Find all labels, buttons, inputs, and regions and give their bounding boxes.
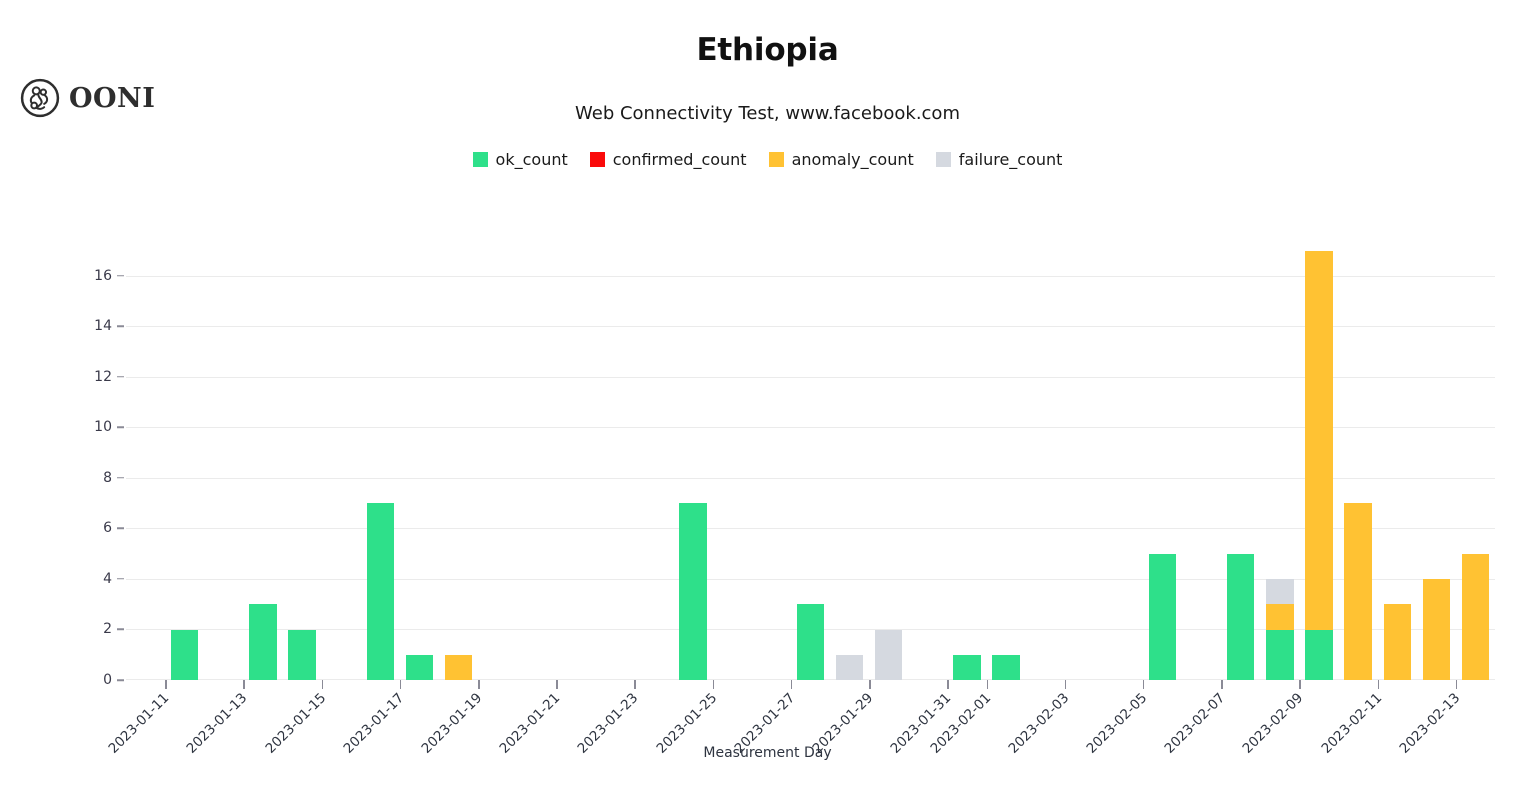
bar-stack[interactable] <box>1227 554 1254 680</box>
bar-segment-anomaly-count[interactable] <box>445 655 472 680</box>
gridline <box>126 427 1495 428</box>
bar-stack[interactable] <box>797 604 824 680</box>
bar-segment-failure-count[interactable] <box>1266 579 1293 604</box>
x-axis-tick <box>322 680 324 689</box>
y-axis-tick-label: 14 <box>72 318 112 334</box>
bar-segment-ok-count[interactable] <box>288 630 315 681</box>
gridline <box>126 528 1495 529</box>
bar-segment-ok-count[interactable] <box>249 604 276 680</box>
bar-segment-ok-count[interactable] <box>171 630 198 681</box>
bar-stack[interactable] <box>953 655 980 680</box>
plot-area: 02468101214162023-01-112023-01-132023-01… <box>126 238 1495 680</box>
bar-segment-anomaly-count[interactable] <box>1305 251 1332 630</box>
gridline <box>126 326 1495 327</box>
bar-stack[interactable] <box>1384 604 1411 680</box>
y-axis-tick-label: 4 <box>72 571 112 587</box>
bar-segment-ok-count[interactable] <box>797 604 824 680</box>
bar-stack[interactable] <box>875 630 902 681</box>
bar-stack[interactable] <box>1305 251 1332 680</box>
bar-stack[interactable] <box>836 655 863 680</box>
x-axis-tick <box>713 680 715 689</box>
bar-segment-ok-count[interactable] <box>992 655 1019 680</box>
y-axis-tick-label: 10 <box>72 419 112 435</box>
gridline <box>126 377 1495 378</box>
y-axis-tick-label: 0 <box>72 672 112 688</box>
y-axis-tick <box>117 629 124 631</box>
bar-stack[interactable] <box>171 630 198 681</box>
chart-page: OONI Ethiopia Web Connectivity Test, www… <box>0 0 1535 803</box>
bar-stack[interactable] <box>288 630 315 681</box>
x-axis-tick <box>869 680 871 689</box>
bar-segment-anomaly-count[interactable] <box>1384 604 1411 680</box>
x-axis-tick <box>947 680 949 689</box>
chart-area: 02468101214162023-01-112023-01-132023-01… <box>0 0 1535 803</box>
x-axis-tick <box>243 680 245 689</box>
bar-stack[interactable] <box>1266 579 1293 680</box>
bar-stack[interactable] <box>249 604 276 680</box>
y-axis-tick-label: 16 <box>72 268 112 284</box>
x-axis-tick <box>1378 680 1380 689</box>
y-axis-tick <box>117 376 124 378</box>
gridline <box>126 276 1495 277</box>
gridline <box>126 478 1495 479</box>
bar-segment-anomaly-count[interactable] <box>1423 579 1450 680</box>
x-axis-tick <box>1143 680 1145 689</box>
x-axis-tick <box>400 680 402 689</box>
y-axis-tick <box>117 275 124 277</box>
x-axis-tick <box>478 680 480 689</box>
bar-segment-ok-count[interactable] <box>1266 630 1293 681</box>
bar-segment-ok-count[interactable] <box>367 503 394 680</box>
bar-stack[interactable] <box>406 655 433 680</box>
bar-segment-anomaly-count[interactable] <box>1462 554 1489 680</box>
y-axis-tick <box>117 427 124 429</box>
bar-segment-failure-count[interactable] <box>875 630 902 681</box>
y-axis-tick <box>117 326 124 328</box>
bar-stack[interactable] <box>367 503 394 680</box>
bar-stack[interactable] <box>1462 554 1489 680</box>
y-axis-tick <box>117 528 124 530</box>
bar-segment-ok-count[interactable] <box>1149 554 1176 680</box>
bar-segment-ok-count[interactable] <box>1227 554 1254 680</box>
y-axis-tick <box>117 477 124 479</box>
bar-segment-anomaly-count[interactable] <box>1344 503 1371 680</box>
bar-segment-anomaly-count[interactable] <box>1266 604 1293 629</box>
y-axis-tick-label: 12 <box>72 369 112 385</box>
y-axis-tick-label: 6 <box>72 520 112 536</box>
x-axis-tick <box>1065 680 1067 689</box>
bar-segment-ok-count[interactable] <box>953 655 980 680</box>
bar-segment-failure-count[interactable] <box>836 655 863 680</box>
x-axis-tick <box>634 680 636 689</box>
x-axis-tick <box>165 680 167 689</box>
bar-segment-ok-count[interactable] <box>679 503 706 680</box>
x-axis-tick <box>1299 680 1301 689</box>
bar-stack[interactable] <box>992 655 1019 680</box>
x-axis-tick <box>1221 680 1223 689</box>
y-axis-tick-label: 8 <box>72 470 112 486</box>
y-axis-tick <box>117 679 124 681</box>
y-axis-tick <box>117 578 124 580</box>
x-axis-tick <box>1456 680 1458 689</box>
bar-stack[interactable] <box>1149 554 1176 680</box>
x-axis-tick <box>556 680 558 689</box>
bar-stack[interactable] <box>445 655 472 680</box>
bar-segment-ok-count[interactable] <box>1305 630 1332 681</box>
bar-stack[interactable] <box>1423 579 1450 680</box>
y-axis-tick-label: 2 <box>72 621 112 637</box>
x-axis-tick <box>987 680 989 689</box>
bar-stack[interactable] <box>679 503 706 680</box>
bar-stack[interactable] <box>1344 503 1371 680</box>
x-axis-tick <box>791 680 793 689</box>
x-axis-title: Measurement Day <box>0 745 1535 761</box>
bar-segment-ok-count[interactable] <box>406 655 433 680</box>
